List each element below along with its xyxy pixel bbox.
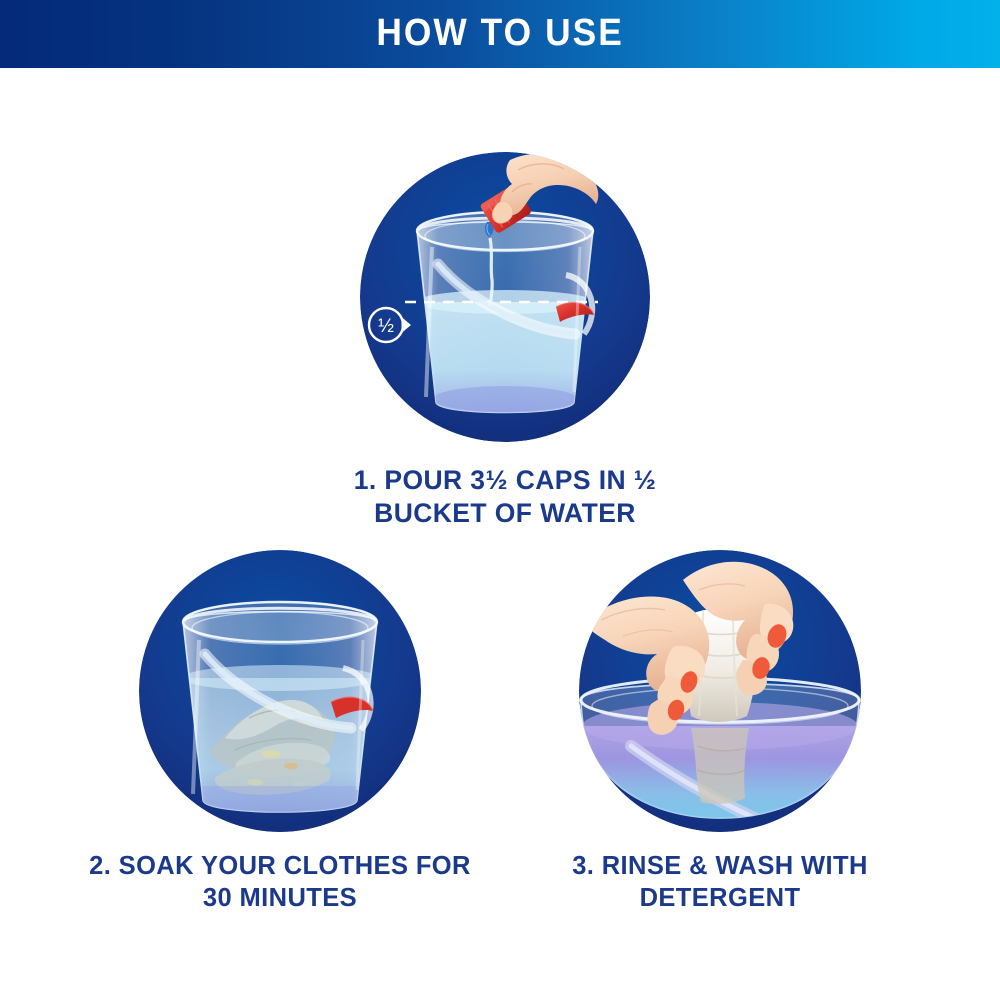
half-level-badge: ½ <box>365 302 411 348</box>
step-1-caption-line-2: BUCKET OF WATER <box>255 497 755 530</box>
page-title: HOW TO USE <box>376 14 624 54</box>
step-1-caption-line-1: 1. POUR 3½ CAPS IN ½ <box>255 464 755 497</box>
step-3-image <box>579 550 861 832</box>
step-2: 2. SOAK YOUR CLOTHES FOR 30 MINUTES <box>30 550 530 914</box>
step-1-caption: 1. POUR 3½ CAPS IN ½ BUCKET OF WATER <box>255 464 755 531</box>
step-3-caption: 3. RINSE & WASH WITH DETERGENT <box>470 850 970 914</box>
liquid-stream <box>490 238 492 304</box>
step-2-caption: 2. SOAK YOUR CLOTHES FOR 30 MINUTES <box>30 850 530 914</box>
bucket-pouring-illustration <box>360 152 650 442</box>
step-3: 3. RINSE & WASH WITH DETERGENT <box>470 550 970 914</box>
step-3-caption-line-1: 3. RINSE & WASH WITH <box>470 850 970 882</box>
step-3-caption-line-2: DETERGENT <box>470 882 970 914</box>
step-1: ½ 1. POUR 3½ CAPS IN ½ BUCKET OF WATER <box>255 152 755 531</box>
bucket-2 <box>169 602 394 830</box>
bucket-1 <box>400 212 610 427</box>
half-badge-label: ½ <box>378 316 394 337</box>
step-2-caption-line-1: 2. SOAK YOUR CLOTHES FOR <box>30 850 530 882</box>
how-to-use-steps: ½ 1. POUR 3½ CAPS IN ½ BUCKET OF WATER <box>0 68 1000 1000</box>
hand-holding-bottle <box>492 154 598 224</box>
hands-wringing-cloth-illustration <box>579 550 861 832</box>
bucket-soaking-clothes-illustration <box>139 550 421 832</box>
page-header-banner: HOW TO USE <box>0 0 1000 68</box>
step-2-caption-line-2: 30 MINUTES <box>30 882 530 914</box>
step-2-image <box>139 550 421 832</box>
step-1-image: ½ <box>360 152 650 442</box>
